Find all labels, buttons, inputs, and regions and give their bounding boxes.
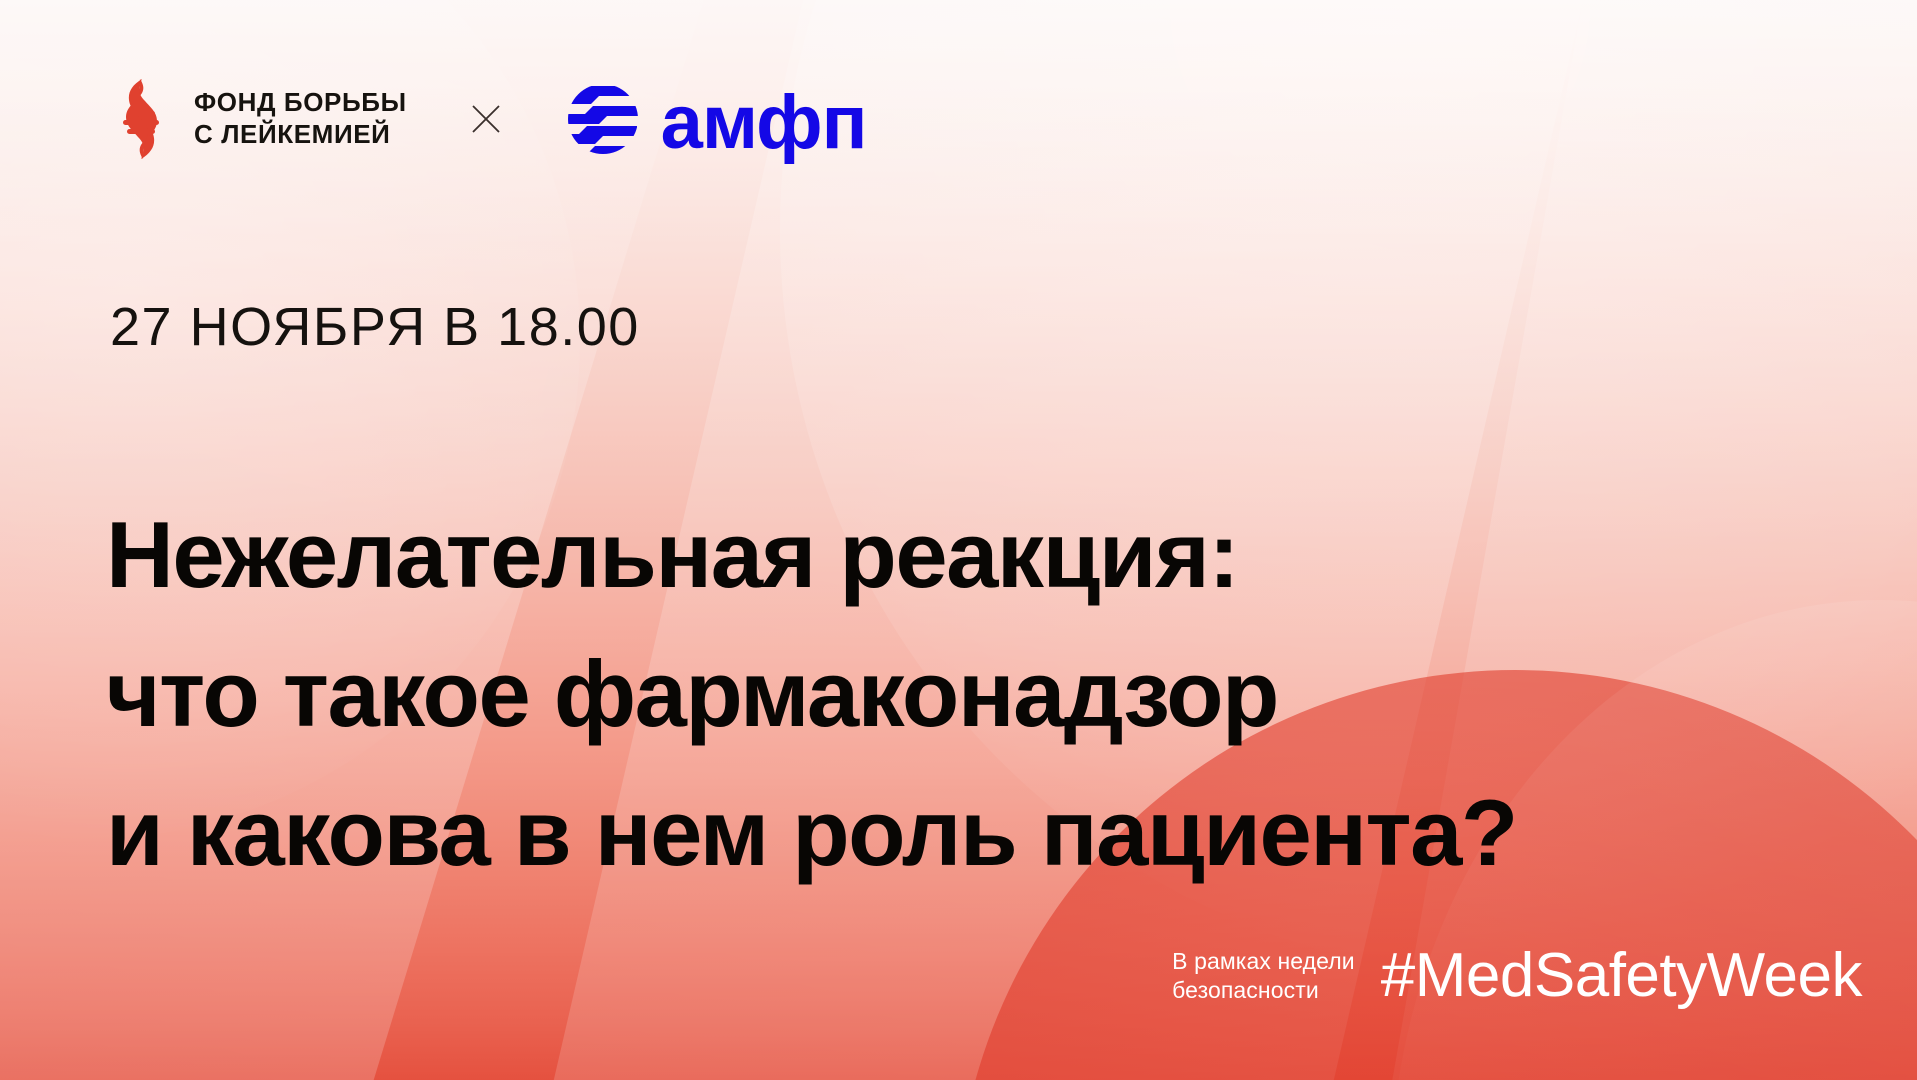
campaign-footer: В рамках недели безопасности #MedSafetyW… bbox=[1172, 945, 1862, 1007]
partner-logo[interactable]: амфп bbox=[565, 78, 867, 160]
headline-line-2: что такое фармаконадзор bbox=[106, 624, 1517, 763]
campaign-hashtag: #MedSafetyWeek bbox=[1381, 945, 1862, 1007]
logo-separator-x bbox=[469, 102, 503, 136]
dna-flame-icon bbox=[110, 78, 172, 160]
fund-logo-name: ФОНД БОРЬБЫ С ЛЕЙКЕМИЕЙ bbox=[194, 87, 407, 150]
page-title: Нежелательная реакция: что такое фармако… bbox=[106, 485, 1517, 902]
fund-logo[interactable]: ФОНД БОРЬБЫ С ЛЕЙКЕМИЕЙ bbox=[110, 78, 407, 160]
campaign-note: В рамках недели безопасности bbox=[1172, 947, 1355, 1006]
headline-line-1: Нежелательная реакция: bbox=[106, 485, 1517, 624]
headline-line-3: и какова в нем роль пациента? bbox=[106, 763, 1517, 902]
promo-banner: ФОНД БОРЬБЫ С ЛЕЙКЕМИЕЙ амфп bbox=[0, 0, 1917, 1080]
event-date: 27 НОЯБРЯ В 18.00 bbox=[110, 296, 640, 358]
close-x-icon bbox=[471, 104, 501, 134]
striped-globe-icon bbox=[565, 78, 641, 160]
logo-row: ФОНД БОРЬБЫ С ЛЕЙКЕМИЕЙ амфп bbox=[110, 78, 867, 160]
partner-wordmark: амфп bbox=[661, 89, 867, 157]
